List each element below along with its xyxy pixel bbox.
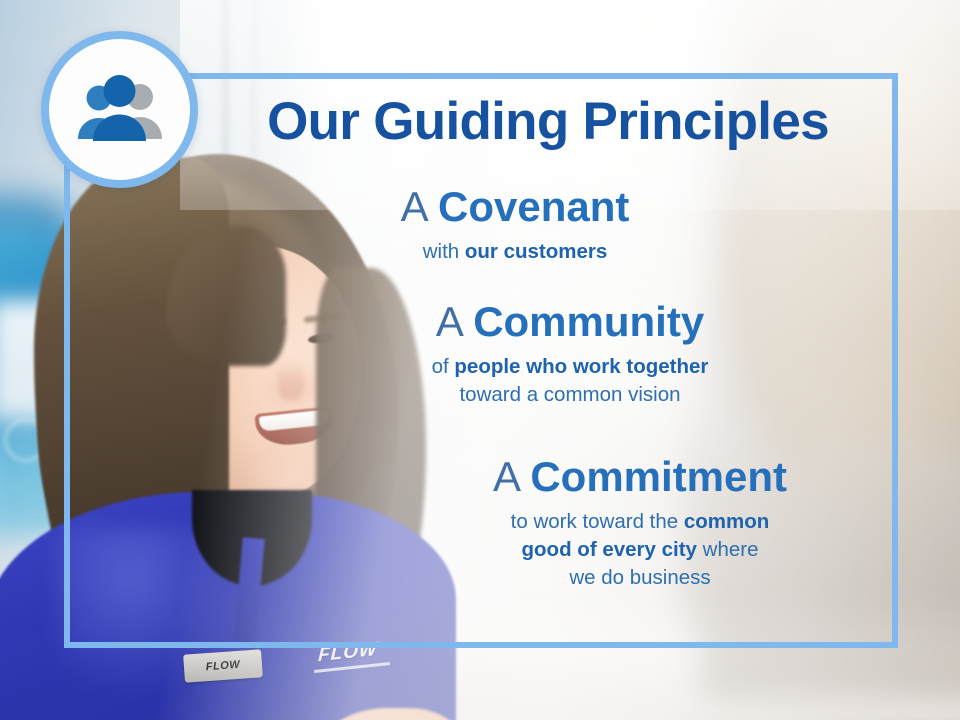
principle-community-article: A: [436, 298, 462, 345]
subtext-run: we do business: [569, 566, 710, 589]
guiding-principles-banner: FLOW FLOW Ou: [0, 0, 960, 720]
subtext-run: to work toward the: [511, 510, 684, 533]
principle-covenant-word: Covenant: [438, 183, 629, 230]
page-title: Our Guiding Principles: [218, 94, 878, 149]
principle-commitment-subtext: to work toward the commongood of every c…: [400, 508, 880, 592]
subtext-emphasis: good of every city: [522, 538, 697, 561]
subtext-emphasis: our customers: [465, 240, 607, 263]
subtext-emphasis: people who work together: [454, 355, 708, 378]
subtext-run: toward a common vision: [459, 383, 680, 406]
subtext-emphasis: common: [684, 510, 769, 533]
subtext-run: where: [697, 538, 759, 561]
people-group-icon: [72, 75, 168, 145]
principle-community: A Community of people who work togethert…: [330, 300, 810, 409]
principle-commitment-word: Commitment: [530, 453, 787, 500]
principle-covenant-article: A: [401, 183, 427, 230]
people-group-badge: [41, 31, 198, 188]
principle-covenant-subtext: with our customers: [300, 238, 730, 266]
subtext-line: with our customers: [300, 238, 730, 266]
principle-commitment: A Commitment to work toward the commongo…: [400, 455, 880, 592]
subtext-line: of people who work together: [330, 353, 810, 381]
principle-community-heading: A Community: [330, 300, 810, 344]
subtext-line: we do business: [400, 564, 880, 592]
subtext-line: to work toward the common: [400, 508, 880, 536]
principle-commitment-heading: A Commitment: [400, 455, 880, 499]
principle-community-word: Community: [473, 298, 704, 345]
principle-covenant-heading: A Covenant: [300, 185, 730, 229]
principle-covenant: A Covenant with our customers: [300, 185, 730, 266]
principle-community-subtext: of people who work togethertoward a comm…: [330, 353, 810, 409]
principle-commitment-article: A: [493, 453, 519, 500]
subtext-line: toward a common vision: [330, 381, 810, 409]
subtext-run: with: [423, 240, 465, 263]
subtext-run: of: [432, 355, 455, 378]
subtext-line: good of every city where: [400, 536, 880, 564]
